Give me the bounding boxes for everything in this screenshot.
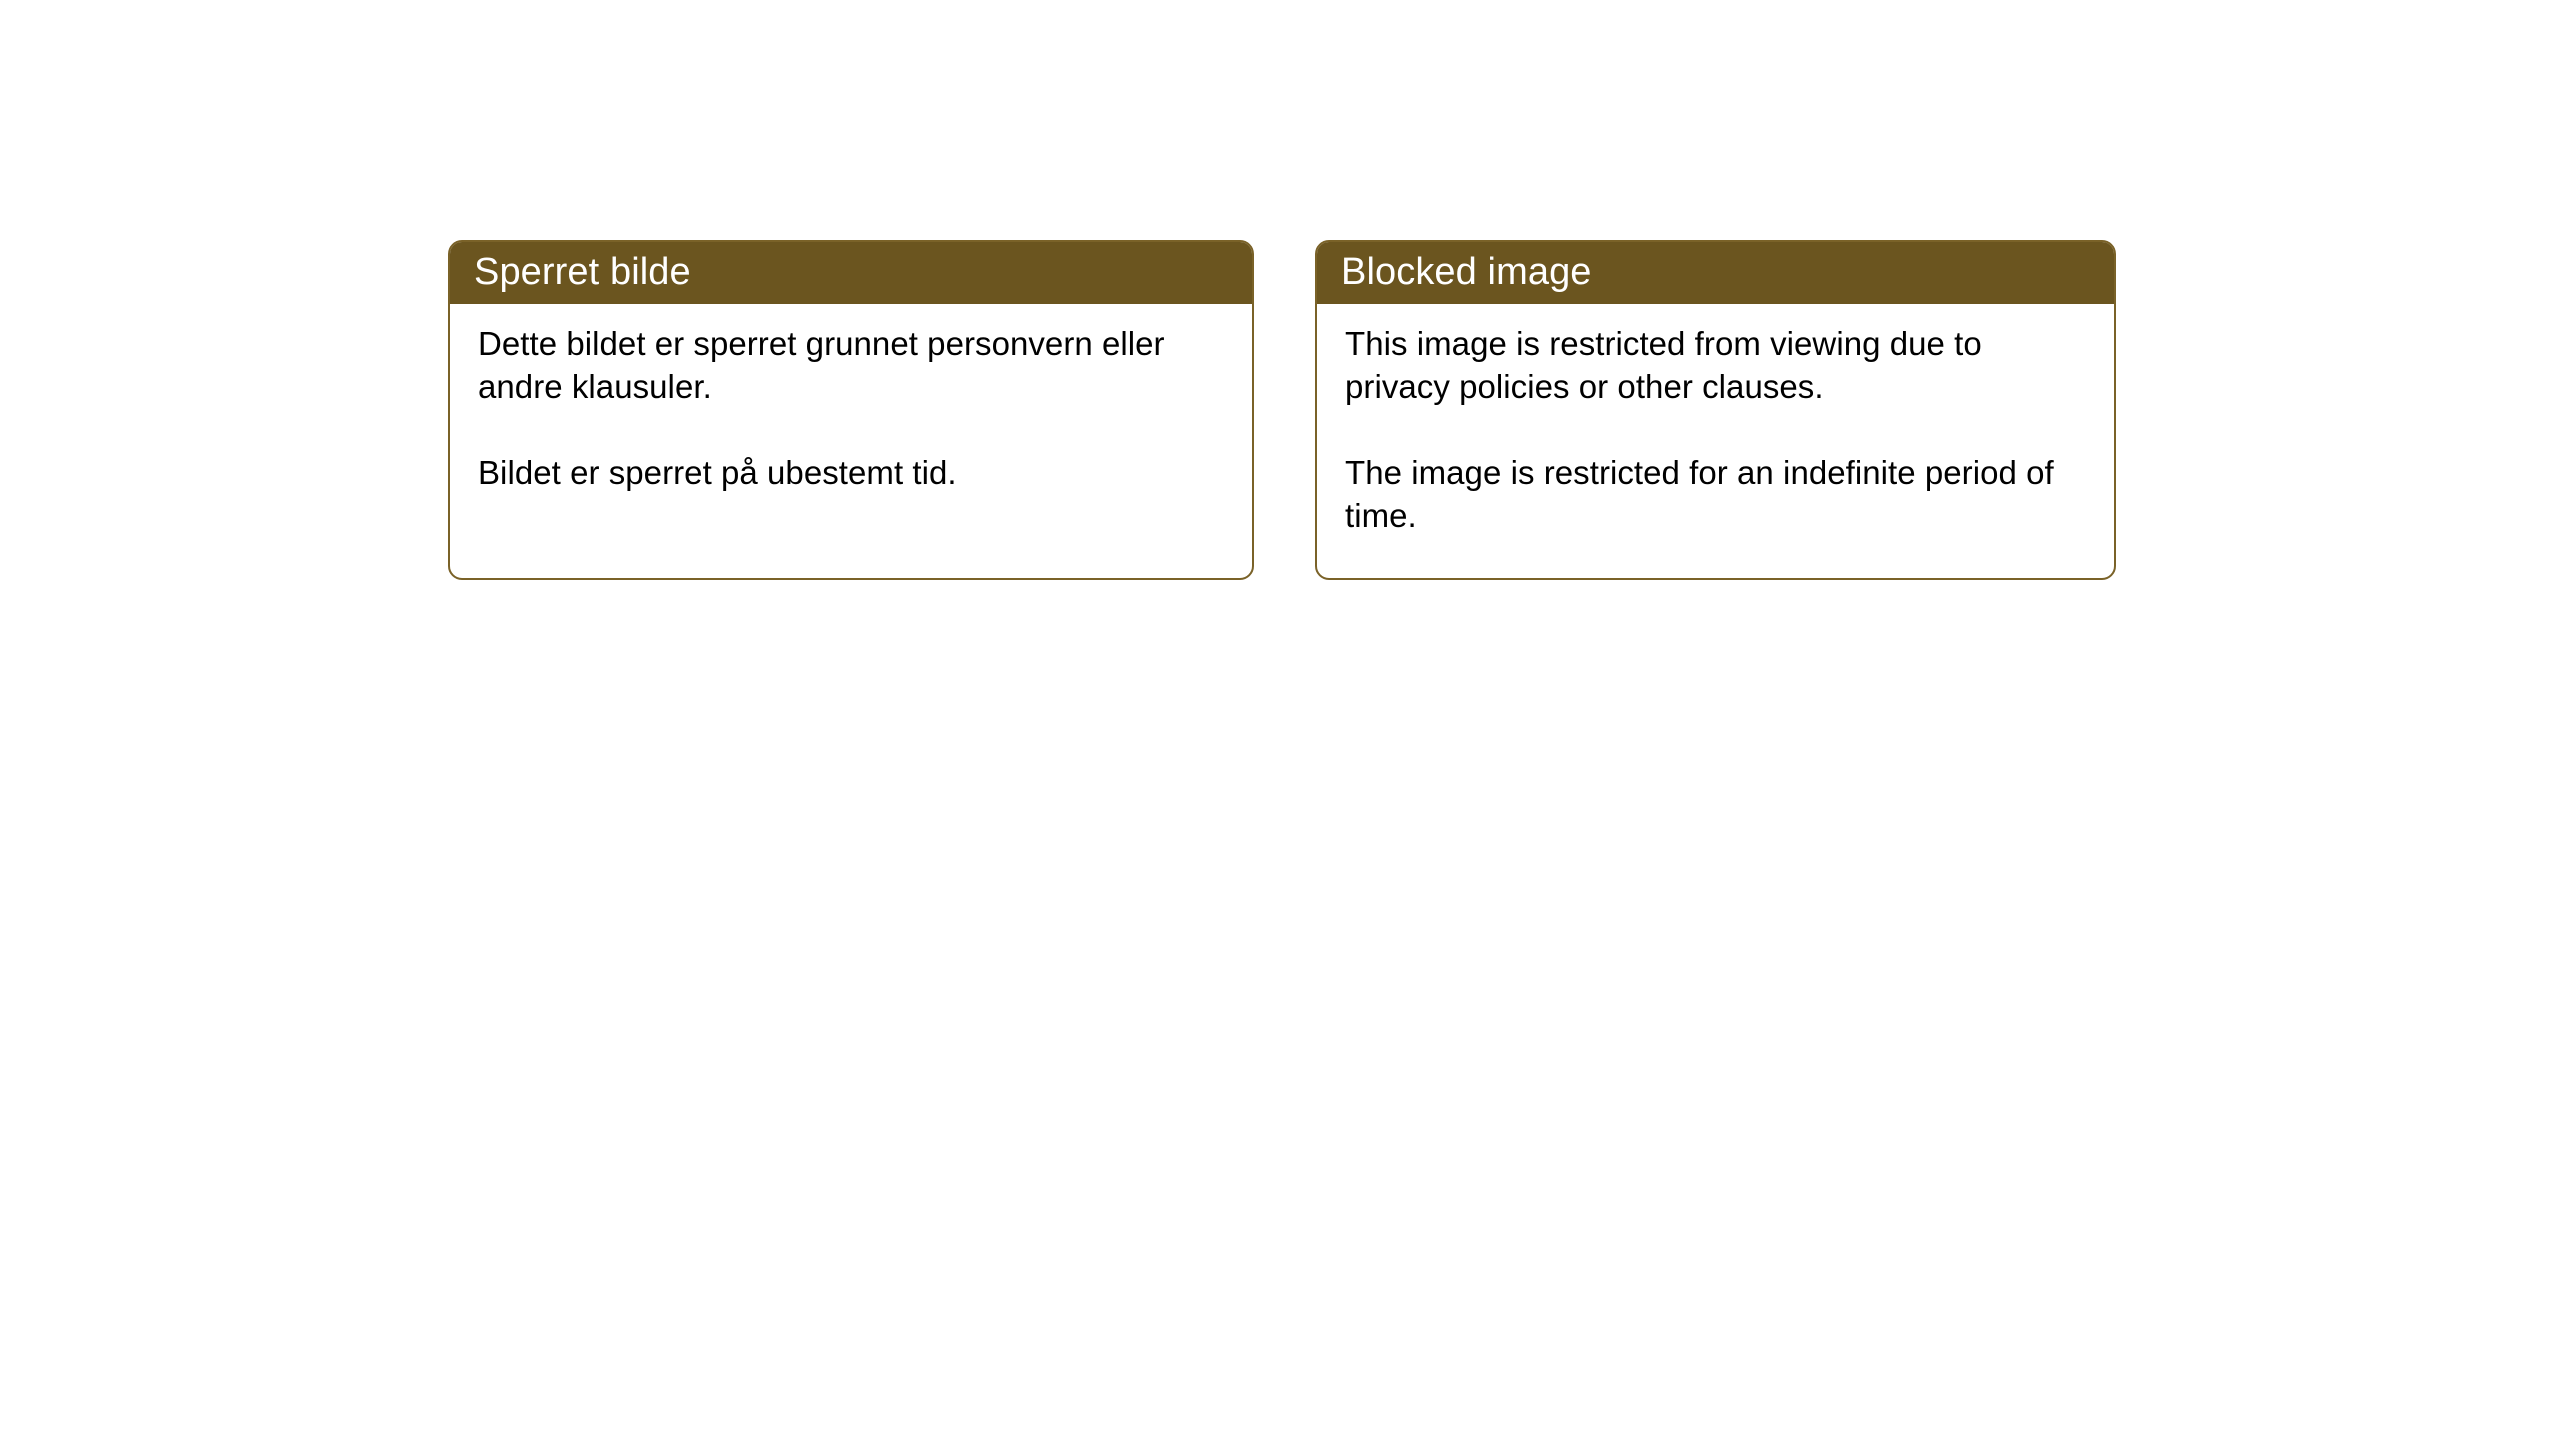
- blocked-image-notice-card-english: Blocked image This image is restricted f…: [1315, 240, 2116, 580]
- card-paragraph-reason-norwegian: Dette bildet er sperret grunnet personve…: [478, 322, 1222, 408]
- card-title-english: Blocked image: [1341, 253, 1592, 291]
- card-paragraph-duration-norwegian: Bildet er sperret på ubestemt tid.: [478, 451, 1222, 494]
- page-canvas: Sperret bilde Dette bildet er sperret gr…: [0, 0, 2560, 1440]
- card-header-english: Blocked image: [1315, 240, 2116, 304]
- card-paragraph-reason-english: This image is restricted from viewing du…: [1345, 322, 2084, 408]
- blocked-image-notice-card-norwegian: Sperret bilde Dette bildet er sperret gr…: [448, 240, 1254, 580]
- card-body-english: This image is restricted from viewing du…: [1317, 304, 2114, 537]
- card-paragraph-duration-english: The image is restricted for an indefinit…: [1345, 451, 2084, 537]
- card-body-norwegian: Dette bildet er sperret grunnet personve…: [450, 304, 1252, 494]
- card-title-norwegian: Sperret bilde: [474, 253, 691, 291]
- card-header-norwegian: Sperret bilde: [448, 240, 1254, 304]
